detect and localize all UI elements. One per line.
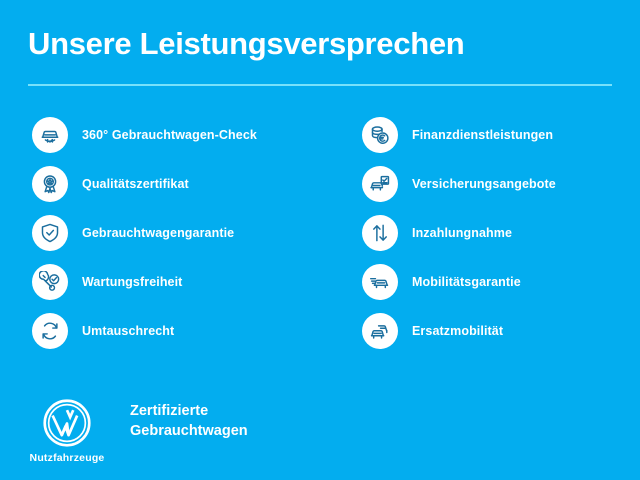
volkswagen-logo	[42, 398, 92, 448]
exchange-arrows-icon	[32, 313, 68, 349]
footer-tagline-line1: Zertifizierte	[130, 402, 248, 422]
benefit-label: Qualitätszertifikat	[82, 177, 189, 191]
car-document-icon	[362, 166, 398, 202]
benefit-label: Mobilitätsgarantie	[412, 275, 521, 289]
coins-euro-icon	[362, 117, 398, 153]
header: Unsere Leistungsversprechen	[28, 28, 612, 61]
benefit-item-umtauschrecht[interactable]: Umtauschrecht	[32, 306, 332, 355]
benefit-item-wartungsfreiheit[interactable]: Wartungsfreiheit	[32, 257, 332, 306]
page-title: Unsere Leistungsversprechen	[28, 28, 612, 61]
car-speed-icon	[362, 264, 398, 300]
benefit-label: Ersatzmobilität	[412, 324, 503, 338]
footer-tagline-line2: Gebrauchtwagen	[130, 422, 248, 442]
award-rosette-icon	[32, 166, 68, 202]
benefit-label: 360° Gebrauchtwagen-Check	[82, 128, 257, 142]
benefit-item-finanzdienstleistungen[interactable]: Finanzdienstleistungen	[362, 110, 632, 159]
promo-poster: Unsere Leistungsversprechen 3	[0, 0, 640, 480]
benefit-item-ersatzmobilitaet[interactable]: Ersatzmobilität	[362, 306, 632, 355]
brand-block: Nutzfahrzeuge	[30, 398, 104, 464]
benefit-label: Wartungsfreiheit	[82, 275, 182, 289]
benefits-column-right: Finanzdienstleistungen Versicheru	[362, 110, 632, 355]
arrows-up-down-icon	[362, 215, 398, 251]
benefit-item-gebrauchtwagengarantie[interactable]: Gebrauchtwagengarantie	[32, 208, 332, 257]
benefits-column-left: 360° Gebrauchtwagen-Check Qualitätszerti…	[32, 110, 332, 355]
shield-check-icon	[32, 215, 68, 251]
benefit-item-qualitaetszertifikat[interactable]: Qualitätszertifikat	[32, 159, 332, 208]
benefit-item-gebrauchtwagen-check[interactable]: 360° Gebrauchtwagen-Check	[32, 110, 332, 159]
wrench-check-icon	[32, 264, 68, 300]
brand-subtitle: Nutzfahrzeuge	[30, 452, 105, 464]
benefit-label: Finanzdienstleistungen	[412, 128, 553, 142]
footer-tagline: Zertifizierte Gebrauchtwagen	[130, 402, 248, 441]
benefit-label: Versicherungsangebote	[412, 177, 556, 191]
header-divider	[28, 84, 612, 86]
benefit-item-inzahlungnahme[interactable]: Inzahlungnahme	[362, 208, 632, 257]
car-check-icon	[32, 117, 68, 153]
footer: Nutzfahrzeuge Zertifizierte Gebrauchtwag…	[30, 398, 248, 464]
benefit-label: Inzahlungnahme	[412, 226, 512, 240]
benefit-label: Umtauschrecht	[82, 324, 174, 338]
benefit-item-mobilitaetsgarantie[interactable]: Mobilitätsgarantie	[362, 257, 632, 306]
benefit-label: Gebrauchtwagengarantie	[82, 226, 234, 240]
two-cars-icon	[362, 313, 398, 349]
benefit-item-versicherungsangebote[interactable]: Versicherungsangebote	[362, 159, 632, 208]
